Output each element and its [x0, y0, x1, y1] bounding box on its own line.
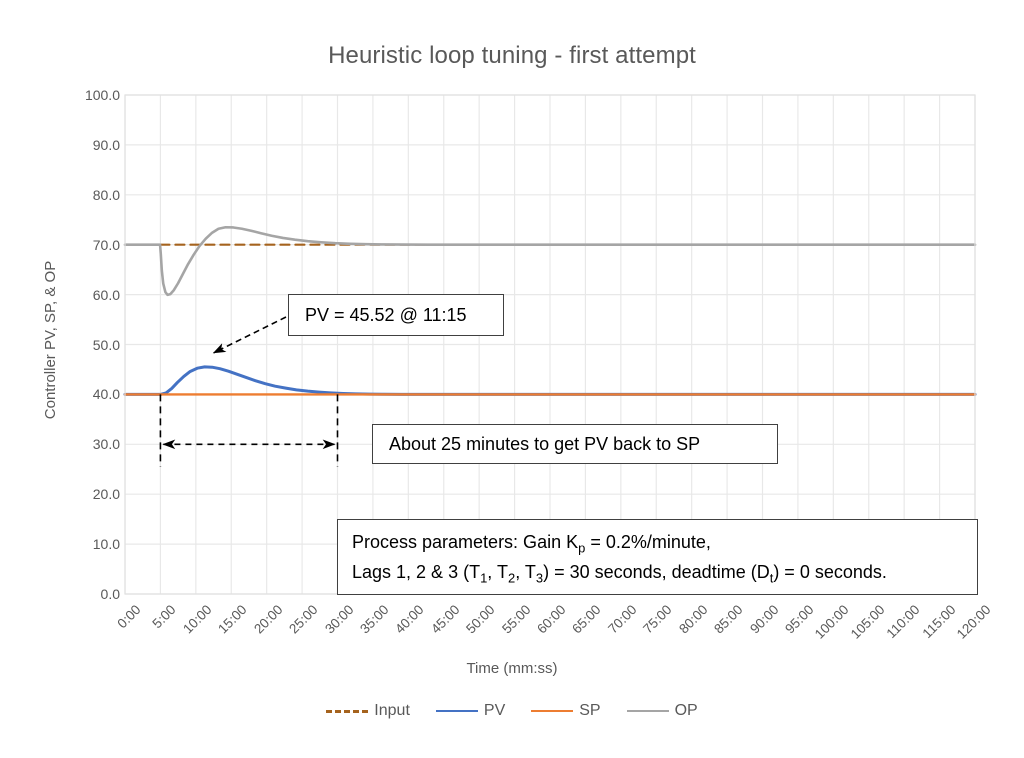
settling-time-annotation: About 25 minutes to get PV back to SP [372, 424, 778, 464]
process-parameters-line-1: Process parameters: Gain Kp = 0.2%/minut… [352, 529, 977, 559]
legend-item-sp[interactable]: SP [531, 702, 600, 720]
params-lags-sep2: , T [515, 562, 536, 582]
params-deadtime-value: ) = 0 seconds. [773, 562, 887, 582]
legend-item-pv[interactable]: PV [436, 702, 505, 720]
params-lags-label: Lags 1, 2 & 3 (T [352, 562, 480, 582]
legend-swatch-input-icon [326, 710, 368, 713]
legend-item-input[interactable]: Input [326, 702, 410, 720]
params-lags-sep1: , T [487, 562, 508, 582]
x-axis-tick-labels: 0:005:0010:0015:0020:0025:0030:0035:0040… [0, 0, 1024, 758]
process-parameters-annotation: Process parameters: Gain Kp = 0.2%/minut… [337, 519, 978, 595]
legend-label-sp: SP [579, 702, 600, 720]
process-parameters-line-2: Lags 1, 2 & 3 (T1, T2, T3) = 30 seconds,… [352, 559, 977, 589]
params-gain-value: = 0.2%/minute, [585, 532, 711, 552]
params-lag3-subscript: 3 [536, 570, 543, 585]
params-gain-label: Process parameters: Gain K [352, 532, 578, 552]
chart-container: Heuristic loop tuning - first attempt Co… [0, 0, 1024, 758]
pv-peak-annotation-text: PV = 45.52 @ 11:15 [305, 305, 467, 326]
legend-swatch-pv-icon [436, 710, 478, 712]
legend-swatch-sp-icon [531, 710, 573, 712]
chart-legend: Input PV SP OP [0, 702, 1024, 720]
legend-swatch-op-icon [627, 710, 669, 712]
legend-label-op: OP [675, 702, 698, 720]
legend-item-op[interactable]: OP [627, 702, 698, 720]
legend-label-input: Input [374, 702, 410, 720]
params-deadtime-label: ) = 30 seconds, deadtime (D [543, 562, 770, 582]
pv-peak-annotation: PV = 45.52 @ 11:15 [288, 294, 504, 336]
x-axis-title: Time (mm:ss) [0, 660, 1024, 677]
settling-time-annotation-text: About 25 minutes to get PV back to SP [389, 434, 700, 455]
legend-label-pv: PV [484, 702, 505, 720]
